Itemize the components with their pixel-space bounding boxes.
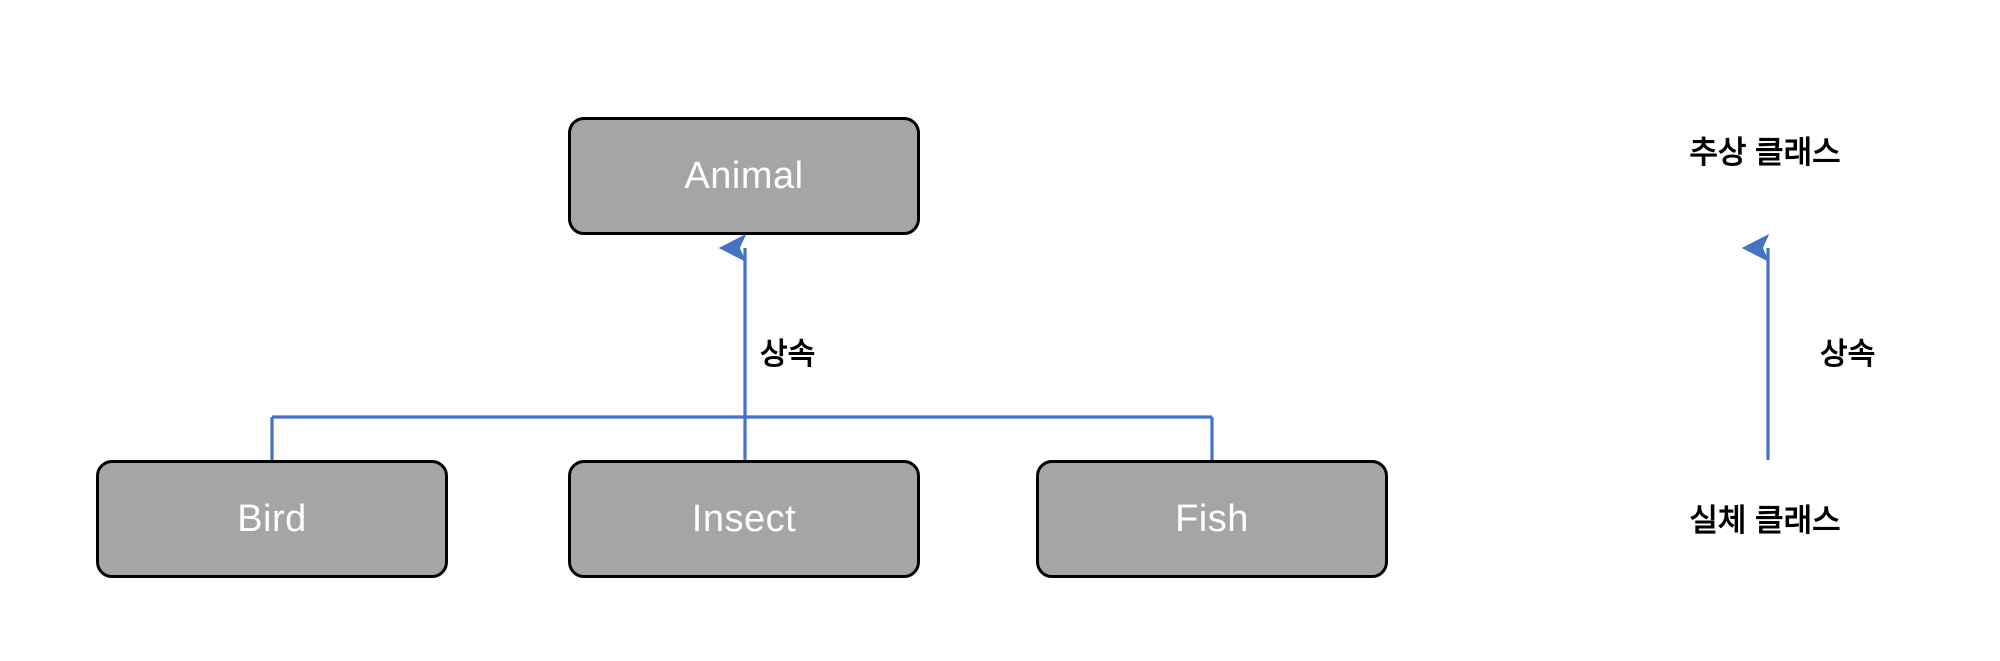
- legend-concrete-class-label: 실체 클래스: [1615, 505, 1915, 536]
- class-node-animal[interactable]: Animal: [568, 117, 920, 235]
- class-node-label: Fish: [1175, 500, 1249, 538]
- class-node-label: Animal: [684, 157, 803, 195]
- class-node-insect[interactable]: Insect: [568, 460, 920, 578]
- class-node-label: Bird: [237, 500, 307, 538]
- class-node-bird[interactable]: Bird: [96, 460, 448, 578]
- edge-label-inheritance: 상속: [760, 340, 815, 370]
- class-node-fish[interactable]: Fish: [1036, 460, 1388, 578]
- legend-abstract-class-label: 추상 클래스: [1615, 137, 1915, 168]
- class-node-label: Insect: [692, 500, 796, 538]
- legend-inheritance-label: 상속: [1820, 340, 1875, 370]
- diagram-canvas: Animal Bird Insect Fish 상속 추상 클래스 상속 실체 …: [0, 0, 2000, 661]
